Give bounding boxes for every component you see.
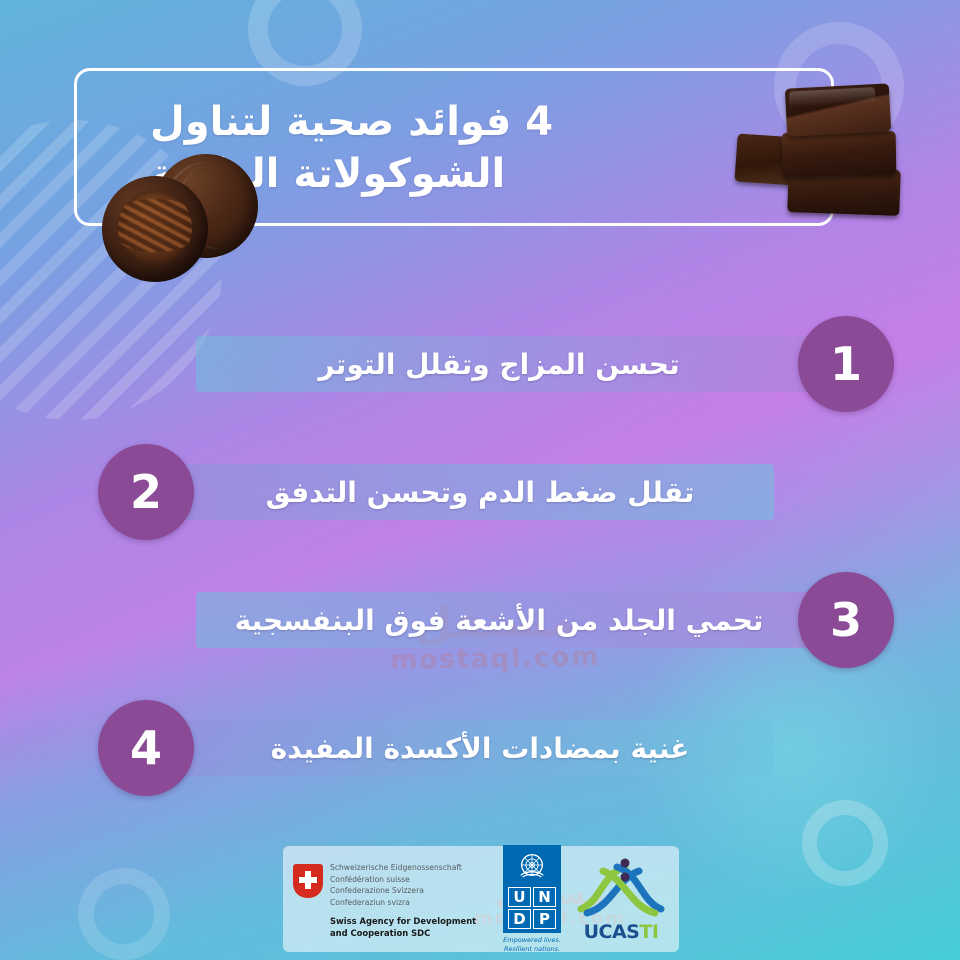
swiss-logo-text: Schweizerische Eidgenossenschaft Confédé… (330, 862, 476, 940)
benefit-row-2: تقلل ضغط الدم وتحسن التدفق 2 (0, 428, 960, 556)
benefit-number-2: 2 (130, 465, 162, 519)
undp-letter-d: D (508, 909, 531, 929)
benefit-bar-3: تحمي الجلد من الأشعة فوق البنفسجية (196, 592, 852, 648)
truffle-halved (102, 176, 208, 282)
undp-tagline: Empowered lives. Resilient nations. (501, 936, 563, 952)
benefit-row-3: تحمي الجلد من الأشعة فوق البنفسجية 3 (0, 556, 960, 684)
benefit-row-1: تحسن المزاج وتقلل التوتر 1 (0, 300, 960, 428)
benefit-badge-4: 4 (98, 700, 194, 796)
swiss-language-names: Schweizerische Eidgenossenschaft Confédé… (330, 862, 476, 908)
ring-decoration-bottom-right (802, 800, 888, 886)
benefit-row-4: غنية بمضادات الأكسدة المفيدة 4 (0, 684, 960, 812)
benefit-number-3: 3 (830, 593, 862, 647)
benefit-badge-3: 3 (798, 572, 894, 668)
ucas-ti-logo: UCASTI (573, 855, 669, 943)
chocolate-truffles-image (98, 152, 258, 282)
un-emblem-icon (517, 850, 547, 880)
swiss-name-romansh: Confederaziun svizra (330, 897, 476, 909)
undp-logo: U N D P Empowered lives. Resilient natio… (501, 845, 563, 952)
benefit-badge-1: 1 (798, 316, 894, 412)
swiss-name-italian: Confederazione Svizzera (330, 885, 476, 897)
chocolate-bar-middle (782, 131, 897, 177)
ucas-wordmark-main: UCAS (584, 921, 640, 943)
undp-letters: U N D P (508, 887, 556, 929)
swiss-cross-icon (293, 864, 323, 898)
truffle-filling (118, 190, 192, 266)
undp-letter-n: N (533, 887, 556, 907)
footer-logo-strip: UCASTI U N D P Emp (283, 846, 679, 952)
undp-letter-u: U (508, 887, 531, 907)
undp-blue-box: U N D P (503, 845, 561, 933)
ucas-wordmark-accent: TI (639, 921, 658, 943)
benefit-bar-1: تحسن المزاج وتقلل التوتر (196, 336, 852, 392)
benefit-bar-2: تقلل ضغط الدم وتحسن التدفق (138, 464, 774, 520)
undp-tagline-line-1: Empowered lives. (501, 936, 563, 944)
benefit-number-4: 4 (130, 721, 162, 775)
chocolate-bars-image (740, 82, 910, 218)
swiss-agency-line-1: Swiss Agency for Development (330, 916, 476, 928)
undp-tagline-line-2: Resilient nations. (501, 945, 563, 953)
benefit-bar-4: غنية بمضادات الأكسدة المفيدة (138, 720, 774, 776)
benefit-text-4: غنية بمضادات الأكسدة المفيدة (271, 732, 690, 765)
benefit-text-3: تحمي الجلد من الأشعة فوق البنفسجية (235, 604, 764, 637)
title-line-1: 4 فوائد صحية لتناول (150, 96, 553, 148)
benefit-number-1: 1 (830, 337, 862, 391)
swiss-name-french: Confédération suisse (330, 874, 476, 886)
benefits-list: تحسن المزاج وتقلل التوتر 1 تقلل ضغط الدم… (0, 300, 960, 812)
swiss-confederation-logo: Schweizerische Eidgenossenschaft Confédé… (293, 858, 491, 940)
benefit-text-1: تحسن المزاج وتقلل التوتر (318, 348, 679, 381)
benefit-text-2: تقلل ضغط الدم وتحسن التدفق (266, 476, 695, 509)
undp-letter-p: P (533, 909, 556, 929)
benefit-badge-2: 2 (98, 444, 194, 540)
ucas-ribbon-icon (577, 857, 665, 917)
swiss-agency-line-2: and Cooperation SDC (330, 928, 476, 940)
swiss-agency-name: Swiss Agency for Development and Coopera… (330, 916, 476, 940)
swiss-name-german: Schweizerische Eidgenossenschaft (330, 862, 476, 874)
ring-decoration-bottom-left (78, 868, 170, 960)
infographic-canvas: مستقل mostaql.com مستقل mostaql.com 4 فو… (0, 0, 960, 960)
chocolate-bar-top (785, 83, 891, 136)
ucas-wordmark: UCASTI (573, 921, 669, 943)
